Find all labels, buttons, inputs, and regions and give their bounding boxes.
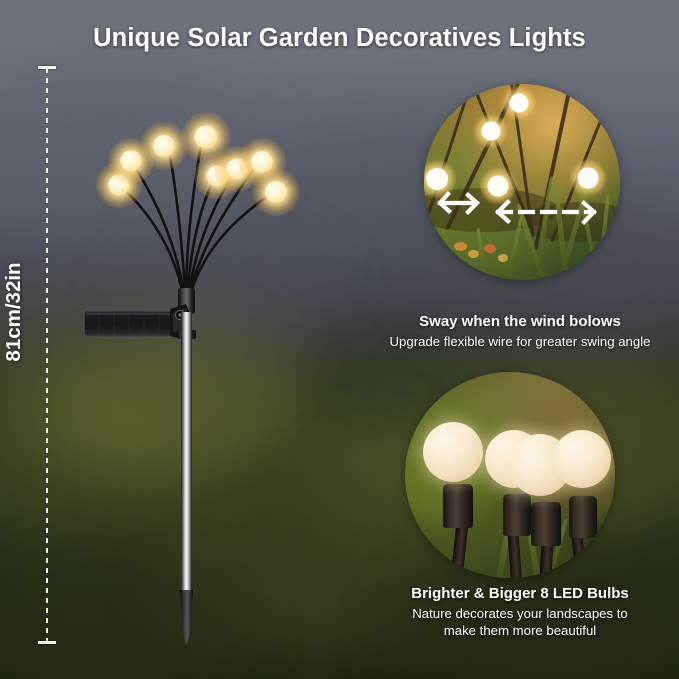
- background-blur-blob: [40, 330, 300, 480]
- feature-subtext: Nature decorates your landscapes to make…: [370, 606, 670, 639]
- short-double-arrow: [440, 194, 477, 212]
- long-dashed-double-arrow: [498, 202, 594, 222]
- height-measurement-ruler: [38, 66, 56, 644]
- page-title: Unique Solar Garden Decoratives Lights: [0, 24, 679, 53]
- garden-at-dusk-photo: [424, 84, 620, 280]
- ruler-bottom-cap: [38, 641, 56, 644]
- feature-heading: Sway when the wind bolows: [370, 313, 670, 330]
- product-infographic: Unique Solar Garden Decoratives Lights 8…: [0, 0, 679, 679]
- led-bulb-unit: [553, 430, 615, 578]
- feature-caption-bulbs: Brighter & Bigger 8 LED Bulbs Nature dec…: [370, 585, 670, 639]
- feature-caption-sway: Sway when the wind bolows Upgrade flexib…: [370, 313, 670, 351]
- measurement-label: 81cm/32in: [2, 262, 26, 361]
- led-bulb-closeup-photo: [405, 372, 615, 578]
- feature-heading: Brighter & Bigger 8 LED Bulbs: [370, 585, 670, 602]
- feature-subtext: Upgrade flexible wire for greater swing …: [370, 334, 670, 351]
- ruler-dashed-line: [46, 68, 48, 642]
- motion-arrow-annotations: [424, 84, 620, 280]
